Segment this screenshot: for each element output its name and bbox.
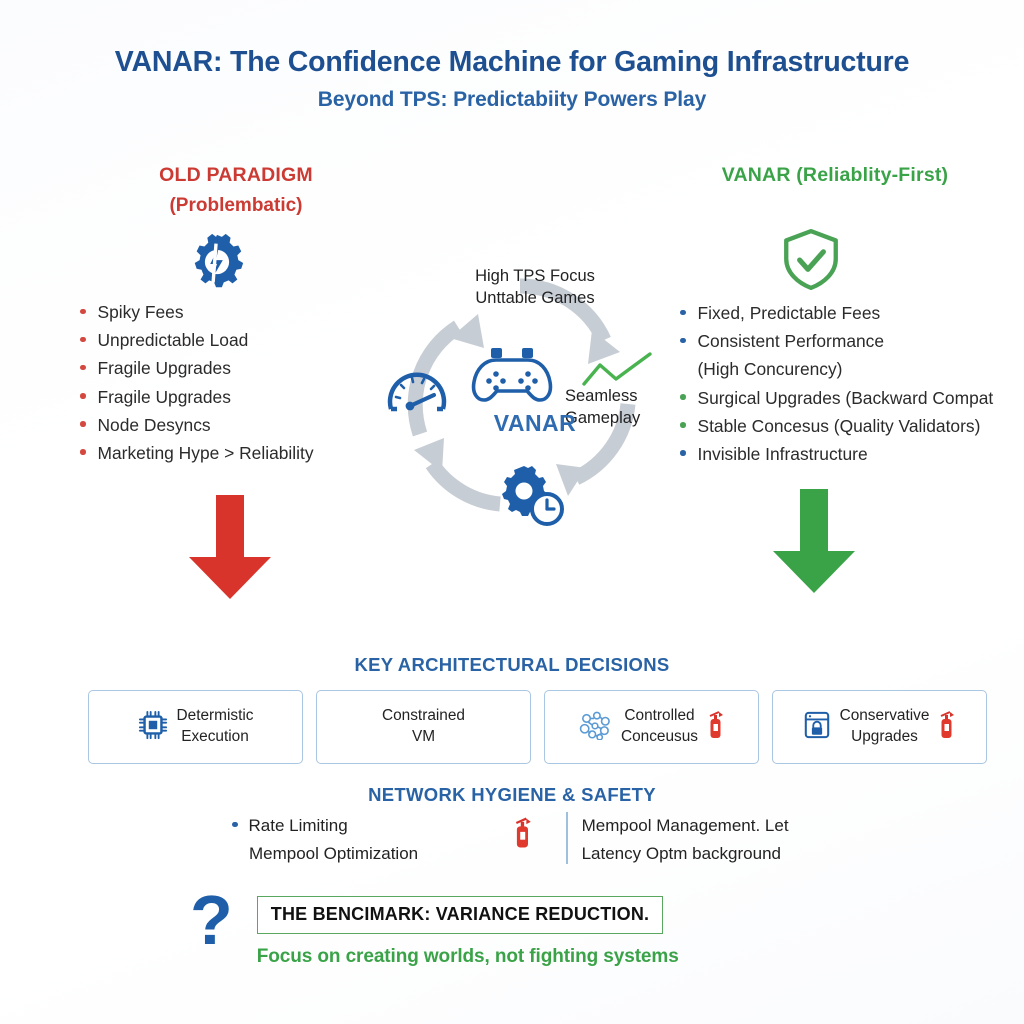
old-paradigm-heading-line2: (Problembatic) <box>66 195 406 217</box>
architecture-card-label: Conservative Upgrades <box>840 706 930 748</box>
list-item-label: Node Desyncs <box>98 411 211 439</box>
network-nodes-icon <box>578 710 612 745</box>
architecture-section-heading: KEY ARCHITECTURAL DECISIONS <box>0 654 1024 676</box>
network-hygiene-right-line2: Latency Optm background <box>582 840 789 868</box>
down-arrow-green <box>762 489 866 599</box>
architecture-card-label: Constrained VM <box>382 706 465 748</box>
list-item-label: Invisible Infrastructure <box>698 440 868 468</box>
list-item: Stable Concesus (Quality Validators) <box>680 412 1024 440</box>
bullet-dot-icon <box>80 449 86 455</box>
card-label-line1: Determistic <box>177 707 254 724</box>
speedometer-icon <box>386 364 448 427</box>
vanar-bullet-list: Fixed, Predictable Fees Consistent Perfo… <box>680 299 1024 468</box>
list-item: Fixed, Predictable Fees <box>680 299 1024 327</box>
fire-extinguisher-icon <box>707 710 725 745</box>
gear-clock-icon <box>496 464 568 533</box>
network-hygiene-left-line1: Rate Limiting <box>249 812 348 840</box>
list-item-label: Unpredictable Load <box>98 326 249 354</box>
page-title: VANAR: The Confidence Machine for Gaming… <box>0 46 1024 79</box>
list-item: Spiky Fees <box>80 298 410 326</box>
gamepad-icon <box>471 346 553 409</box>
old-paradigm-heading-line1: OLD PARADIGM <box>66 164 406 187</box>
bullet-dot-icon <box>80 365 86 371</box>
list-item-continuation: (High Concurency) <box>680 355 1024 383</box>
network-hygiene-left-line2: Mempool Optimization <box>232 840 494 868</box>
infographic-canvas: VANAR: The Confidence Machine for Gaming… <box>0 0 1024 1024</box>
card-label-line1: Conservative <box>840 707 930 724</box>
list-item: Fragile Upgrades <box>80 383 410 411</box>
list-item-label: Fixed, Predictable Fees <box>698 299 881 327</box>
list-item: Consistent Performance <box>680 327 1024 355</box>
cycle-center-label: VANAR <box>460 410 610 437</box>
bullet-dot-icon <box>680 450 686 456</box>
network-hygiene-right: Mempool Management. Let Latency Optm bac… <box>582 812 789 867</box>
question-mark-icon: ? <box>190 888 233 952</box>
benchmark-statement: THE BENCIMARK: VARIANCE REDUCTION. <box>271 904 649 924</box>
fire-extinguisher-icon <box>938 710 956 745</box>
architecture-card-label: Controlled Conceusus <box>621 706 698 748</box>
architecture-card-row: Determistic Execution Constrained VM <box>88 690 987 764</box>
page-subtitle: Beyond TPS: Predictabiity Powers Play <box>0 88 1024 112</box>
list-item: Invisible Infrastructure <box>680 440 1024 468</box>
down-arrow-red <box>178 495 282 605</box>
list-item: Fragile Upgrades <box>80 354 410 382</box>
card-label-line2: Execution <box>181 728 249 745</box>
benchmark-highlight-box: THE BENCIMARK: VARIANCE REDUCTION. <box>257 896 663 934</box>
list-item-label: Marketing Hype > Reliability <box>98 439 314 467</box>
cycle-top-label: High TPS Focus Unttable Games <box>435 266 635 310</box>
bullet-dot-icon <box>232 822 238 828</box>
network-hygiene-heading: NETWORK HYGIENE & SAFETY <box>0 784 1024 806</box>
broken-gear-icon <box>186 231 248 298</box>
shield-check-icon <box>778 226 844 297</box>
list-item: Node Desyncs <box>80 411 410 439</box>
list-item-label: Fragile Upgrades <box>98 383 231 411</box>
card-label-line1: Controlled <box>624 707 694 724</box>
list-item-label: Consistent Performance <box>698 327 885 355</box>
cycle-top-label-line2: Unttable Games <box>435 288 635 310</box>
benchmark-tagline: Focus on creating worlds, not fighting s… <box>257 946 679 968</box>
list-item: Marketing Hype > Reliability <box>80 439 410 467</box>
architecture-card-constrained-vm[interactable]: Constrained VM <box>316 690 531 764</box>
vertical-divider <box>566 812 568 864</box>
architecture-card-determistic-execution[interactable]: Determistic Execution <box>88 690 303 764</box>
card-label-line1: Constrained <box>382 707 465 724</box>
list-item-label: Surgical Upgrades (Backward Compat <box>698 384 994 412</box>
bullet-dot-icon <box>80 421 86 427</box>
list-item-label: (High Concurency) <box>698 355 843 383</box>
list-item-label: Fragile Upgrades <box>98 354 231 382</box>
cycle-top-label-line1: High TPS Focus <box>435 266 635 288</box>
browser-lock-icon <box>803 710 831 745</box>
bullet-dot-icon <box>680 310 686 316</box>
vanar-heading-label: VANAR (Reliablity-First) <box>640 164 1024 187</box>
old-paradigm-bullet-list: Spiky Fees Unpredictable Load Fragile Up… <box>80 298 410 467</box>
card-label-line2: Upgrades <box>851 728 918 745</box>
list-item: Rate Limiting <box>232 812 494 840</box>
architecture-card-controlled-conceusus[interactable]: Controlled Conceusus <box>544 690 759 764</box>
bullet-dot-icon <box>80 393 86 399</box>
list-item-label: Spiky Fees <box>98 298 184 326</box>
list-item: Surgical Upgrades (Backward Compat <box>680 384 1024 412</box>
bullet-dot-icon <box>80 309 86 315</box>
cpu-chip-icon <box>138 710 168 745</box>
old-paradigm-heading: OLD PARADIGM (Problembatic) <box>66 164 406 217</box>
cycle-diagram: High TPS Focus Unttable Games Seamless G… <box>380 252 680 532</box>
architecture-card-label: Determistic Execution <box>177 706 254 748</box>
bullet-spacer <box>680 366 686 372</box>
network-hygiene-right-line1: Mempool Management. Let <box>582 812 789 840</box>
network-hygiene-left: Rate Limiting Mempool Optimization <box>232 812 494 867</box>
list-item: Unpredictable Load <box>80 326 410 354</box>
benchmark-block: ? THE BENCIMARK: VARIANCE REDUCTION. Foc… <box>190 896 679 968</box>
card-label-line2: VM <box>412 728 435 745</box>
network-hygiene-block: Rate Limiting Mempool Optimization Mempo… <box>232 812 789 867</box>
card-label-line2: Conceusus <box>621 728 698 745</box>
architecture-card-conservative-upgrades[interactable]: Conservative Upgrades <box>772 690 987 764</box>
line-chart-up-icon <box>582 352 654 397</box>
title-block: VANAR: The Confidence Machine for Gaming… <box>0 46 1024 112</box>
fire-extinguisher-icon <box>494 812 552 850</box>
vanar-heading: VANAR (Reliablity-First) <box>640 164 1024 187</box>
bullet-dot-icon <box>80 337 86 343</box>
list-item-label: Stable Concesus (Quality Validators) <box>698 412 981 440</box>
benchmark-text-group: THE BENCIMARK: VARIANCE REDUCTION. Focus… <box>257 896 679 968</box>
bullet-dot-icon <box>680 338 686 344</box>
